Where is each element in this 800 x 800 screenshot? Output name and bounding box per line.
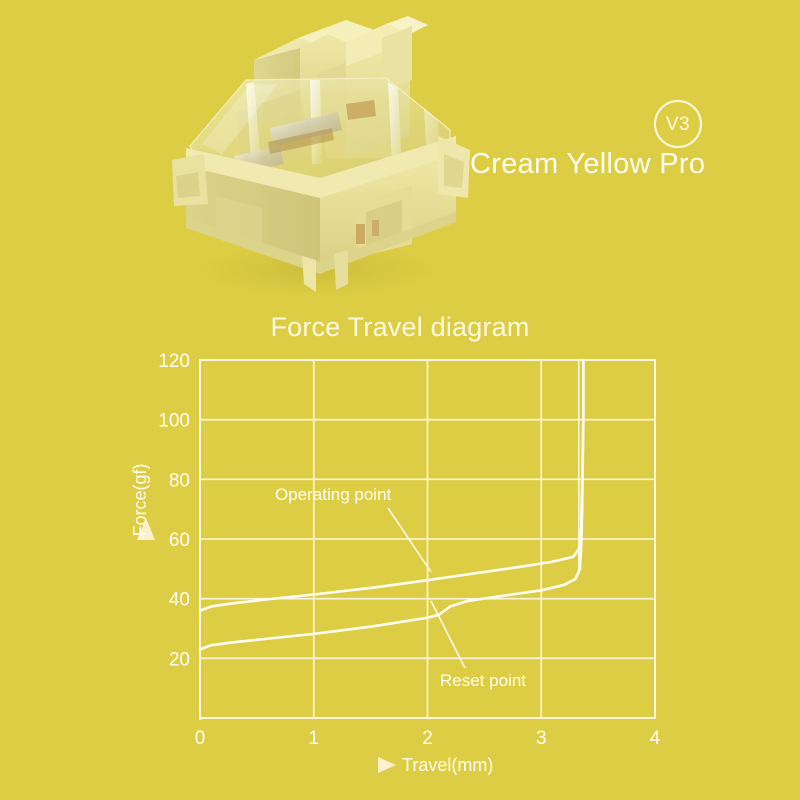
y-tick-label: 40 <box>169 590 190 611</box>
chart-curves <box>200 360 583 649</box>
x-tick-label: 4 <box>650 728 661 749</box>
y-tick-label: 60 <box>169 530 190 551</box>
x-axis-arrow <box>300 757 396 773</box>
y-tick-label: 120 <box>158 351 190 372</box>
x-tick-label: 3 <box>536 728 547 749</box>
chart-x-tick-labels: 01234 <box>195 728 661 749</box>
y-tick-label: 20 <box>169 649 190 670</box>
x-tick-label: 1 <box>308 728 319 749</box>
x-tick-label: 2 <box>422 728 433 749</box>
chart-canvas: 01234 20406080100120 Operating pointRese… <box>0 300 800 800</box>
y-tick-label: 80 <box>169 470 190 491</box>
chart-y-tick-labels: 20406080100120 <box>158 351 190 670</box>
x-axis-label: Travel(mm) <box>402 755 493 775</box>
chart-annotations: Operating pointReset point <box>275 485 526 690</box>
x-tick-label: 0 <box>195 728 206 749</box>
switch-illustration <box>150 8 480 298</box>
switch-product-image <box>150 8 480 298</box>
annotation-label: Operating point <box>275 485 392 504</box>
version-badge: V3 <box>654 100 702 148</box>
hero-section: V3 Cream Yellow Pro <box>0 0 800 300</box>
chart-gridlines <box>200 360 655 718</box>
y-tick-label: 100 <box>158 411 190 432</box>
annotation-leader-line <box>388 508 431 572</box>
product-title: Cream Yellow Pro <box>470 148 770 181</box>
annotation-label: Reset point <box>440 671 526 690</box>
product-infographic-page: V3 Cream Yellow Pro Force Travel diagram… <box>0 0 800 800</box>
force-curve-press <box>200 360 583 611</box>
force-travel-chart: Force Travel diagram 01234 2040608010012… <box>0 300 800 800</box>
force-curve-release <box>200 360 583 649</box>
y-axis-label: Force(gf) <box>130 463 150 536</box>
